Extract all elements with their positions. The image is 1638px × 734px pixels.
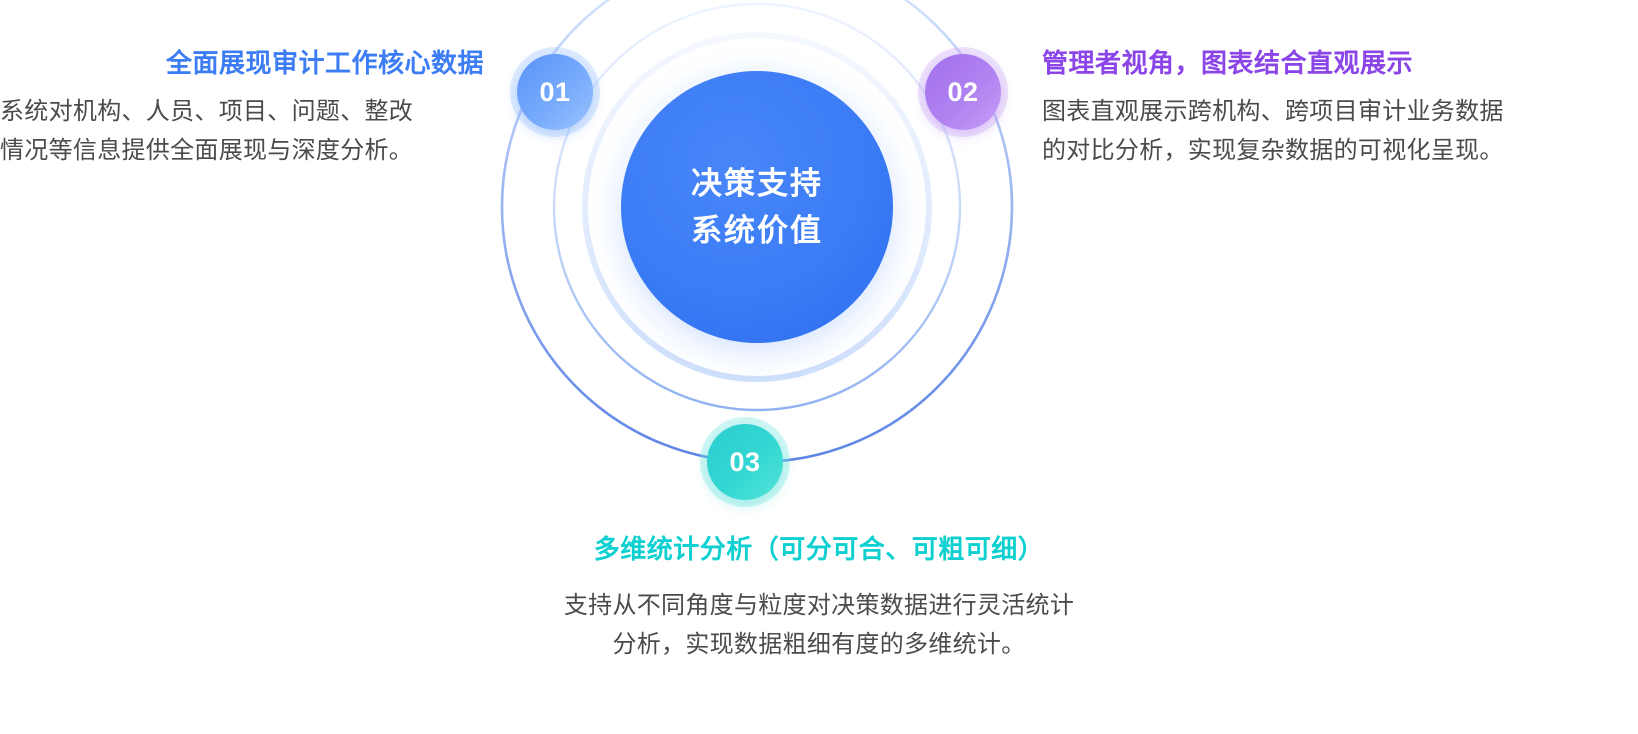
feature-02-body-line-2: 的对比分析，实现复杂数据的可视化呈现。 <box>1042 137 1504 164</box>
feature-03-body-line-2: 分析，实现数据粗细有度的多维统计。 <box>612 631 1025 658</box>
core-title-line-1: 决策支持 <box>622 160 892 207</box>
core-title: 决策支持 系统价值 <box>622 160 892 254</box>
feature-02-heading: 管理者视角，图表结合直观展示 <box>1042 48 1638 79</box>
badge-02[interactable]: 02 <box>925 54 1001 130</box>
feature-03-body-line-1: 支持从不同角度与粒度对决策数据进行灵活统计 <box>564 592 1074 619</box>
feature-01-body: 系统对机构、人员、项目、问题、整改 情况等信息提供全面展现与深度分析。 <box>0 93 484 171</box>
core-title-line-2: 系统价值 <box>622 207 892 254</box>
ring-inner <box>585 35 929 379</box>
badge-03[interactable]: 03 <box>707 424 783 500</box>
ring-middle <box>554 4 960 410</box>
badge-01-label: 01 <box>539 77 570 108</box>
badge-01[interactable]: 01 <box>517 54 593 130</box>
feature-01-heading: 全面展现审计工作核心数据 <box>0 48 484 79</box>
feature-03-heading: 多维统计分析（可分可合、可粗可细） <box>419 534 1219 565</box>
feature-block-01: 全面展现审计工作核心数据 系统对机构、人员、项目、问题、整改 情况等信息提供全面… <box>0 48 484 171</box>
badge-03-label: 03 <box>729 447 760 478</box>
feature-01-body-line-1: 系统对机构、人员、项目、问题、整改 <box>0 98 413 125</box>
core-circle <box>621 71 893 343</box>
feature-02-body: 图表直观展示跨机构、跨项目审计业务数据 的对比分析，实现复杂数据的可视化呈现。 <box>1042 93 1638 171</box>
badge-02-label: 02 <box>947 77 978 108</box>
feature-01-body-line-2: 情况等信息提供全面展现与深度分析。 <box>0 137 413 164</box>
feature-block-02: 管理者视角，图表结合直观展示 图表直观展示跨机构、跨项目审计业务数据 的对比分析… <box>1042 48 1638 171</box>
feature-block-03: 多维统计分析（可分可合、可粗可细） 支持从不同角度与粒度对决策数据进行灵活统计 … <box>419 534 1219 665</box>
infographic-canvas: 决策支持 系统价值 01 02 03 全面展现审计工作核心数据 系统对机构、人员… <box>0 0 1638 734</box>
feature-03-body: 支持从不同角度与粒度对决策数据进行灵活统计 分析，实现数据粗细有度的多维统计。 <box>419 587 1219 665</box>
feature-02-body-line-1: 图表直观展示跨机构、跨项目审计业务数据 <box>1042 98 1504 125</box>
